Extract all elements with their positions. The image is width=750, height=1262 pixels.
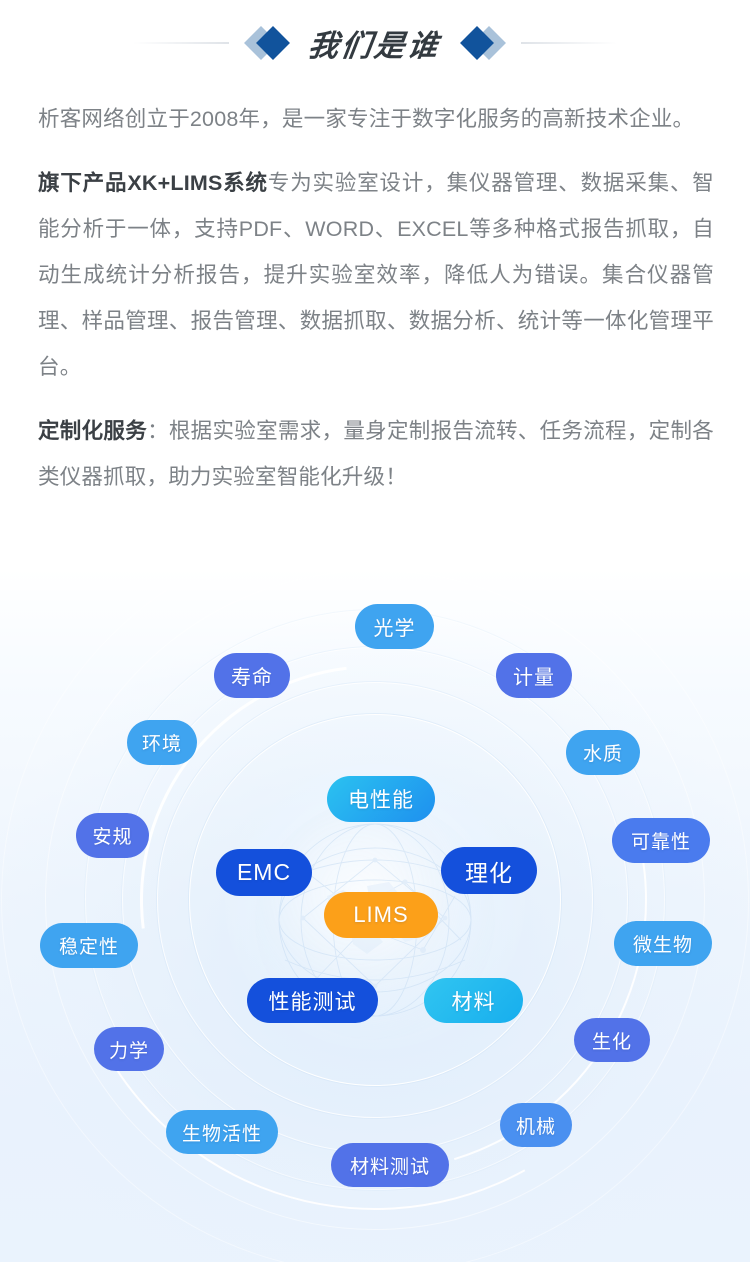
capability-tag-label: 环境 (142, 729, 182, 756)
capability-tag[interactable]: 稳定性 (40, 923, 138, 968)
capability-tag[interactable]: 材料测试 (331, 1143, 449, 1187)
capability-tag-label: 力学 (109, 1036, 149, 1063)
capability-tag-label: 电性能 (348, 784, 414, 814)
capability-tag-label: 机械 (516, 1112, 556, 1139)
capability-tag-label: LIMS (353, 902, 408, 928)
capability-tag-label: 生物活性 (182, 1119, 262, 1146)
capability-tag-label: 稳定性 (59, 932, 119, 959)
capability-tag[interactable]: 计量 (496, 653, 572, 698)
capability-tag[interactable]: 光学 (355, 604, 434, 649)
capability-tag-label: 寿命 (231, 661, 273, 690)
about-copy: 析客网络创立于2008年，是一家专注于数字化服务的高新技术企业。 旗下产品XK+… (38, 96, 714, 518)
capability-tag[interactable]: 生化 (574, 1018, 650, 1062)
capability-tag[interactable]: 性能测试 (247, 978, 378, 1023)
capability-tag-label: 可靠性 (631, 827, 691, 854)
capability-tag-label: 材料 (452, 986, 496, 1016)
capability-tag-label: 生化 (592, 1027, 632, 1054)
capability-tag-label: 安规 (92, 822, 132, 849)
capability-tag[interactable]: 材料 (424, 978, 523, 1023)
capability-tag[interactable]: 生物活性 (166, 1110, 278, 1154)
capability-tag[interactable]: 安规 (76, 813, 149, 858)
paragraph-1-text: 析客网络创立于2008年，是一家专注于数字化服务的高新技术企业。 (38, 107, 694, 131)
capability-tag-cloud: 光学寿命计量环境水质电性能安规可靠性EMC理化LIMS稳定性微生物性能测试材料生… (0, 568, 750, 1262)
section-header: 我们是谁 (0, 0, 750, 86)
capability-tag-label: 材料测试 (350, 1152, 430, 1179)
capability-tag[interactable]: 微生物 (614, 921, 712, 966)
paragraph-3-emphasis: 定制化服务 (38, 419, 147, 443)
capability-tag[interactable]: 电性能 (327, 776, 435, 822)
diamond-icon-left (247, 26, 291, 60)
capability-tag-label: 水质 (583, 739, 623, 766)
capability-tag-label: 性能测试 (269, 986, 357, 1016)
header-rule-left (133, 42, 229, 44)
capability-tag[interactable]: 水质 (566, 730, 640, 775)
capability-tag-label: 计量 (513, 661, 555, 690)
capability-tag[interactable]: LIMS (324, 892, 438, 938)
capability-tag-label: 微生物 (633, 930, 693, 957)
capability-tag[interactable]: EMC (216, 849, 312, 896)
capability-tag-label: 理化 (465, 854, 513, 888)
capability-tag[interactable]: 可靠性 (612, 818, 710, 863)
page-title: 我们是谁 (306, 21, 444, 65)
capability-tag[interactable]: 环境 (127, 720, 197, 765)
capability-tag[interactable]: 寿命 (214, 653, 290, 698)
capability-tag-label: EMC (237, 859, 291, 886)
paragraph-2: 旗下产品XK+LIMS系统专为实验室设计，集仪器管理、数据采集、智能分析于一体，… (38, 160, 714, 390)
capability-tag[interactable]: 力学 (94, 1027, 164, 1071)
page-root: 我们是谁 析客网络创立于2008年，是一家专注于数字化服务的高新技术企业。 旗下… (0, 0, 750, 1262)
diamond-icon-right (459, 26, 503, 60)
capability-tag[interactable]: 机械 (500, 1103, 572, 1147)
paragraph-1: 析客网络创立于2008年，是一家专注于数字化服务的高新技术企业。 (38, 96, 714, 142)
header-rule-right (521, 42, 617, 44)
capability-tag[interactable]: 理化 (441, 847, 537, 894)
capability-tag-label: 光学 (374, 612, 416, 641)
paragraph-2-emphasis: 旗下产品XK+LIMS系统 (38, 171, 268, 195)
paragraph-3: 定制化服务：根据实验室需求，量身定制报告流转、任务流程，定制各类仪器抓取，助力实… (38, 408, 714, 500)
paragraph-2-text: 专为实验室设计，集仪器管理、数据采集、智能分析于一体，支持PDF、WORD、EX… (38, 171, 714, 379)
